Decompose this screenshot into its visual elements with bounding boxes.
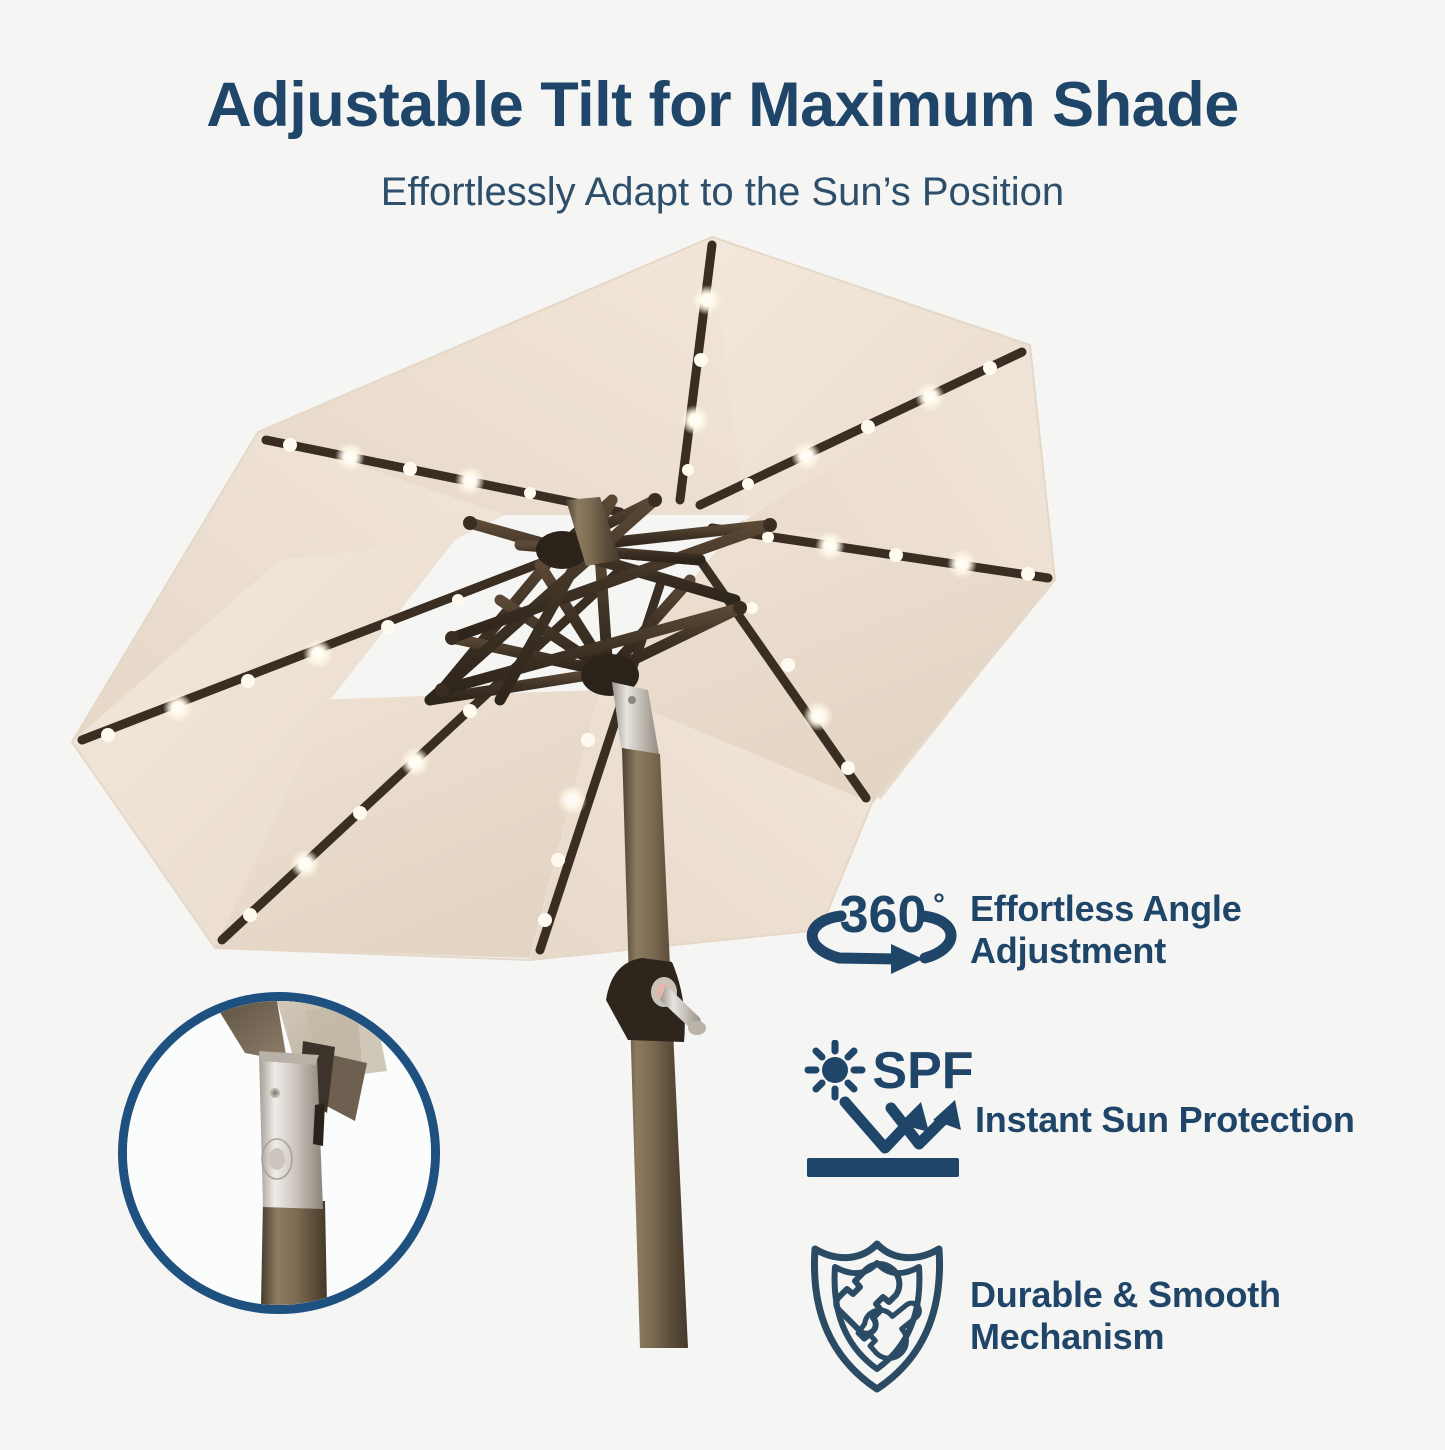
infographic-stage: Adjustable Tilt for Maximum Shade Effort… [0,0,1445,1445]
feature-label-sun-protection: Instant Sun Protection [975,1099,1355,1141]
feature-label-line1: Durable & Smooth [970,1274,1281,1316]
feature-label-line1: Instant Sun Protection [975,1099,1355,1141]
degree-symbol: ° [933,888,945,921]
360-icon-text: 360 [839,886,926,944]
360-degree-rotation-icon: 360 ° [795,855,970,1005]
feature-label-line1: Effortless Angle [970,888,1242,930]
feature-label-angle-adjustment: Effortless Angle Adjustment [970,888,1242,973]
spf-icon-text: SPF [872,1042,973,1100]
sun-core [822,1057,848,1083]
360-icon-svg: 360 ° [799,876,967,984]
tilt-mechanism-inset [118,992,440,1314]
feature-label-durable-mechanism: Durable & Smooth Mechanism [970,1274,1281,1359]
feature-item-angle-adjustment: 360 ° Effortless Angle Adjustment [795,855,1445,1005]
feature-label-line2: Mechanism [970,1316,1281,1358]
feature-item-durable-mechanism: Durable & Smooth Mechanism [795,1241,1445,1391]
inset-closeup-illustration [127,1001,431,1305]
spf-sun-protection-icon: SPF [795,1045,975,1195]
fabric-bar [807,1158,959,1177]
deflection-arrows [845,1102,951,1148]
crank-mechanism [606,958,706,1042]
feature-item-sun-protection: SPF Instant Sun Protection [795,1045,1445,1195]
shield-wrenches-icon [795,1241,970,1391]
feature-label-line2: Adjustment [970,930,1242,972]
shield-icon-svg [803,1239,963,1394]
feature-list: 360 ° Effortless Angle Adjustment [795,855,1445,1427]
spf-icon-svg: SPF [795,1040,975,1200]
